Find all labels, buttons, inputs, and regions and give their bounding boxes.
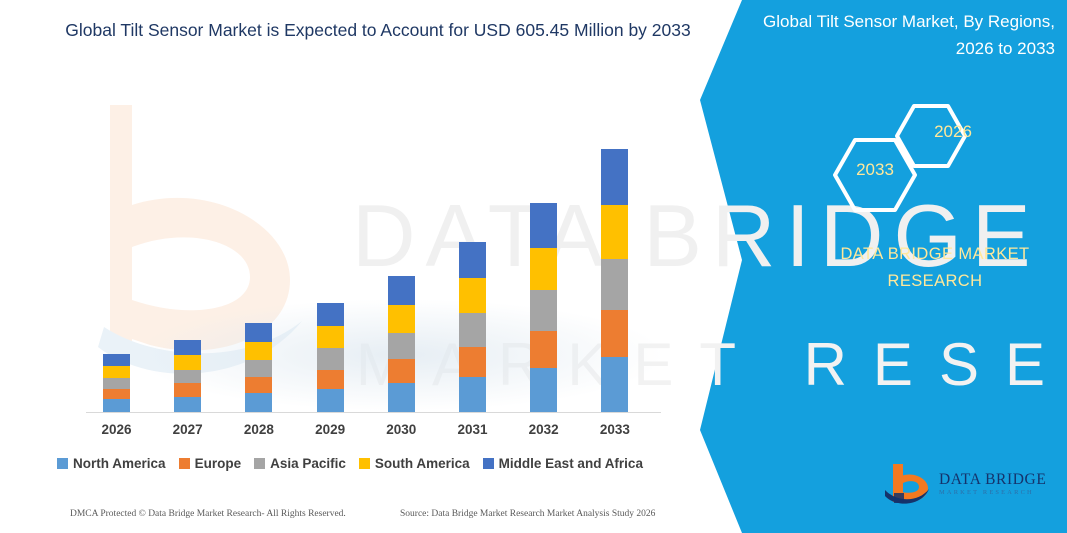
legend-label: Europe — [195, 456, 242, 471]
x-axis-label-2031: 2031 — [443, 422, 503, 437]
bar-segment-south-america-2026 — [103, 366, 130, 378]
bar-segment-asia-pacific-2026 — [103, 378, 130, 389]
bar-segment-europe-2028 — [245, 377, 272, 393]
bar-segment-middle-east-and-africa-2031 — [459, 242, 486, 278]
stacked-bar-chart — [0, 0, 700, 430]
bar-segment-north-america-2027 — [174, 397, 201, 412]
bar-segment-europe-2027 — [174, 383, 201, 396]
bar-2033 — [601, 149, 628, 412]
right-panel-title: Global Tilt Sensor Market, By Regions, 2… — [735, 8, 1055, 62]
legend-swatch-icon — [179, 458, 190, 469]
bar-segment-middle-east-and-africa-2032 — [530, 203, 557, 248]
legend-label: North America — [73, 456, 166, 471]
bar-segment-middle-east-and-africa-2029 — [317, 303, 344, 326]
bar-2030 — [388, 276, 415, 412]
hexagon-group — [810, 88, 1060, 218]
bar-segment-asia-pacific-2032 — [530, 290, 557, 331]
bar-segment-asia-pacific-2028 — [245, 360, 272, 377]
bar-2031 — [459, 242, 486, 412]
bar-segment-south-america-2032 — [530, 248, 557, 290]
x-axis-label-2030: 2030 — [371, 422, 431, 437]
bar-segment-south-america-2030 — [388, 305, 415, 333]
legend-item-middle-east-and-africa: Middle East and Africa — [483, 456, 643, 471]
bar-segment-south-america-2029 — [317, 326, 344, 348]
x-axis-label-2033: 2033 — [585, 422, 645, 437]
bar-2027 — [174, 340, 201, 412]
bar-segment-middle-east-and-africa-2026 — [103, 354, 130, 367]
bar-segment-south-america-2033 — [601, 205, 628, 259]
bar-segment-north-america-2028 — [245, 393, 272, 412]
bar-segment-north-america-2026 — [103, 399, 130, 412]
x-axis-label-2026: 2026 — [87, 422, 147, 437]
x-axis-label-2028: 2028 — [229, 422, 289, 437]
bar-segment-north-america-2031 — [459, 377, 486, 412]
bar-segment-north-america-2033 — [601, 357, 628, 412]
bar-segment-europe-2032 — [530, 331, 557, 368]
bar-segment-asia-pacific-2027 — [174, 370, 201, 384]
legend-swatch-icon — [359, 458, 370, 469]
logo-subtitle: MARKET RESEARCH — [939, 490, 1046, 496]
bar-segment-middle-east-and-africa-2033 — [601, 149, 628, 205]
hexagon-label-2026: 2026 — [913, 122, 993, 142]
legend-label: Middle East and Africa — [499, 456, 643, 471]
bar-segment-asia-pacific-2033 — [601, 259, 628, 310]
legend-label: South America — [375, 456, 470, 471]
bar-2028 — [245, 323, 272, 412]
legend-item-south-america: South America — [359, 456, 470, 471]
legend-swatch-icon — [483, 458, 494, 469]
legend-label: Asia Pacific — [270, 456, 346, 471]
brand-name: DATA BRIDGE MARKET RESEARCH — [800, 241, 1067, 295]
data-bridge-logo: DATA BRIDGE MARKET RESEARCH — [884, 462, 1046, 506]
x-axis-label-2032: 2032 — [514, 422, 574, 437]
x-axis-line — [86, 412, 661, 413]
bar-segment-asia-pacific-2030 — [388, 333, 415, 359]
footer-copyright: DMCA Protected © Data Bridge Market Rese… — [70, 509, 346, 519]
legend-item-asia-pacific: Asia Pacific — [254, 456, 346, 471]
bar-segment-europe-2031 — [459, 347, 486, 377]
hexagon-label-2033: 2033 — [835, 160, 915, 180]
bar-segment-asia-pacific-2029 — [317, 348, 344, 370]
bar-segment-north-america-2030 — [388, 383, 415, 412]
legend-item-europe: Europe — [179, 456, 242, 471]
bar-segment-middle-east-and-africa-2027 — [174, 340, 201, 355]
logo-mark-icon — [884, 462, 930, 506]
bar-2032 — [530, 203, 557, 412]
bar-segment-north-america-2029 — [317, 389, 344, 412]
chart-title: Global Tilt Sensor Market is Expected to… — [58, 16, 698, 45]
chart-legend: North AmericaEuropeAsia PacificSouth Ame… — [0, 456, 700, 471]
bar-segment-south-america-2027 — [174, 355, 201, 370]
bar-segment-south-america-2031 — [459, 278, 486, 313]
legend-item-north-america: North America — [57, 456, 166, 471]
infographic-canvas: DATA BRIDGE MARKET RESEARCH Global Tilt … — [0, 0, 1067, 533]
bar-segment-europe-2033 — [601, 310, 628, 357]
logo-text: DATA BRIDGE MARKET RESEARCH — [939, 472, 1046, 497]
bar-segment-middle-east-and-africa-2028 — [245, 323, 272, 342]
bar-segment-north-america-2032 — [530, 368, 557, 412]
logo-title: DATA BRIDGE — [939, 472, 1046, 488]
bar-2026 — [103, 354, 130, 412]
bar-2029 — [317, 303, 344, 412]
legend-swatch-icon — [254, 458, 265, 469]
x-axis-label-2027: 2027 — [158, 422, 218, 437]
bar-segment-europe-2030 — [388, 359, 415, 383]
footer-source: Source: Data Bridge Market Research Mark… — [400, 509, 655, 519]
bar-segment-europe-2026 — [103, 389, 130, 399]
x-axis-label-2029: 2029 — [300, 422, 360, 437]
bar-segment-middle-east-and-africa-2030 — [388, 276, 415, 305]
bar-segment-asia-pacific-2031 — [459, 313, 486, 346]
bar-segment-europe-2029 — [317, 370, 344, 389]
legend-swatch-icon — [57, 458, 68, 469]
bar-segment-south-america-2028 — [245, 342, 272, 360]
